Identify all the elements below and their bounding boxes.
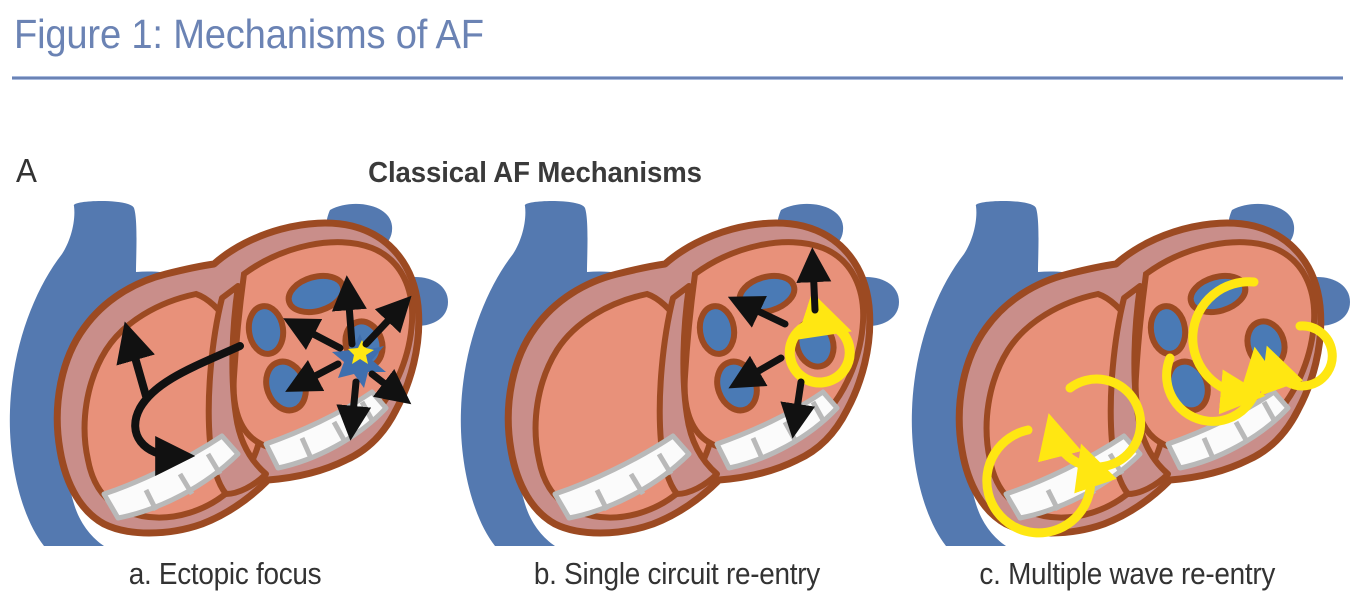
caption-text: b. Single circuit re-entry [533, 552, 819, 596]
panel-single-circuit-re-entry [451, 198, 902, 546]
heart-anatomy [10, 201, 448, 546]
figure-container: Figure 1: Mechanisms of AF A Classical A… [0, 0, 1355, 610]
caption-text: a. Ectopic focus [129, 552, 322, 596]
figure-title-divider [12, 76, 1343, 80]
caption-single-circuit-re-entry: b. Single circuit re-entry [451, 552, 902, 604]
panel-captions: a. Ectopic focus b. Single circuit re-en… [0, 552, 1355, 604]
section-heading: Classical AF Mechanisms [27, 155, 1044, 191]
heart-panel-row [0, 198, 1355, 546]
heart-anatomy [912, 201, 1350, 546]
panel-ectopic-focus [0, 198, 451, 546]
caption-multiple-wave-re-entry: c. Multiple wave re-entry [902, 552, 1353, 604]
caption-text: c. Multiple wave re-entry [980, 552, 1276, 596]
panel-multiple-wave-re-entry [902, 198, 1353, 546]
heart-anatomy [461, 201, 899, 546]
caption-ectopic-focus: a. Ectopic focus [0, 552, 451, 604]
figure-title: Figure 1: Mechanisms of AF [14, 8, 484, 60]
